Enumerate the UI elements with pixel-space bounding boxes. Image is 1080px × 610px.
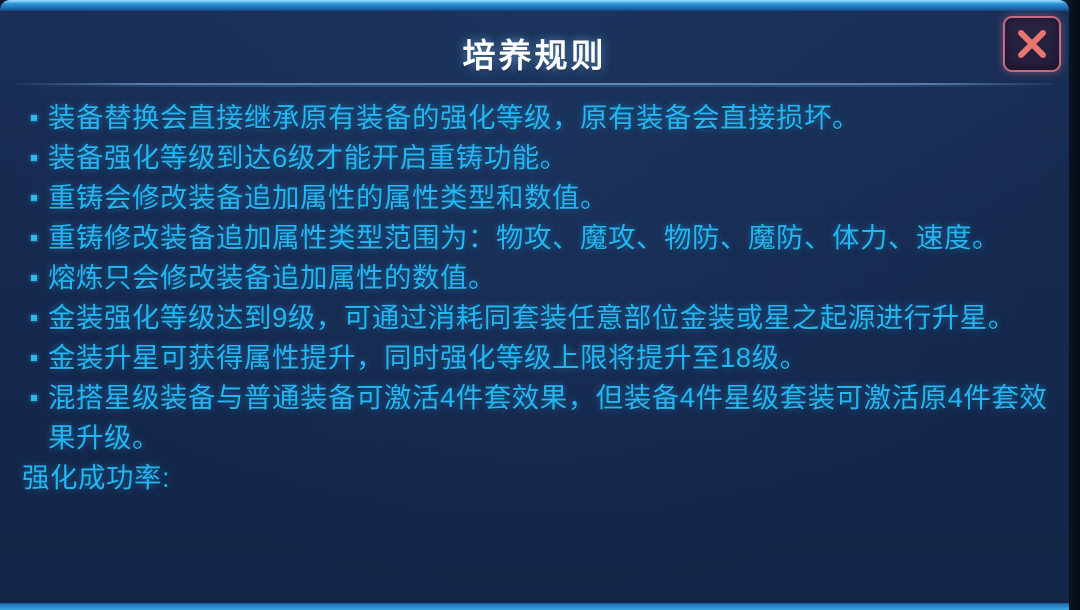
list-item: 熔炼只会修改装备追加属性的数值。 [22, 258, 1051, 298]
list-item: 装备强化等级到达6级才能开启重铸功能。 [22, 138, 1051, 178]
close-icon [1005, 27, 1059, 61]
close-button[interactable] [1003, 16, 1061, 72]
success-rate-label: 强化成功率: [22, 458, 1051, 498]
list-item: 装备替换会直接继承原有装备的强化等级，原有装备会直接损坏。 [22, 98, 1051, 138]
list-item: 金装强化等级达到9级，可通过消耗同套装任意部位金装或星之起源进行升星。 [22, 298, 1051, 338]
screen-right-edge [1069, 0, 1080, 610]
rules-list: 装备替换会直接继承原有装备的强化等级，原有装备会直接损坏。 装备强化等级到达6级… [0, 90, 1069, 606]
list-item: 重铸会修改装备追加属性的属性类型和数值。 [22, 178, 1051, 218]
list-item: 金装升星可获得属性提升，同时强化等级上限将提升至18级。 [22, 338, 1051, 378]
page-title: 培养规则 [0, 29, 1069, 77]
list-item: 混搭星级装备与普通装备可激活4件套效果，但装备4件星级套装可激活原4件套效果升级… [22, 378, 1051, 458]
header-divider-glow [14, 85, 1054, 87]
dialog-header: 培养规则 [0, 11, 1069, 83]
dialog-bottom-accent-bar [0, 603, 1069, 610]
game-screen: Lv.18 336 · · · · · · · · · · 培养规则 装备替换会… [0, 0, 1080, 610]
list-item: 重铸修改装备追加属性类型范围为：物攻、魔攻、物防、魔防、体力、速度。 [22, 218, 1051, 258]
dialog-top-accent-gloss [0, 0, 1069, 3]
cultivation-rules-dialog: 培养规则 装备替换会直接继承原有装备的强化等级，原有装备会直接损坏。 装备强化等… [0, 0, 1069, 610]
